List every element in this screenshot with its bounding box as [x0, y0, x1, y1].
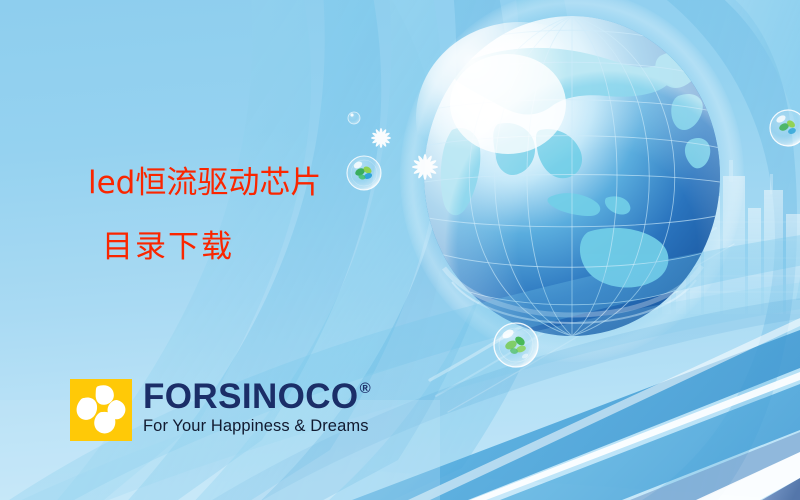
logo-wordmark: FORSINOCO ® For Your Happiness & Dreams	[143, 379, 371, 436]
headline-line-1: led恒流驱动芯片	[88, 168, 418, 200]
headline-text: led恒流驱动芯片 目录下载	[88, 168, 418, 263]
registered-trademark-symbol: ®	[360, 381, 371, 396]
logo-mark	[70, 379, 132, 441]
logo-tagline: For Your Happiness & Dreams	[143, 417, 371, 436]
pinwheel-flower-icon	[70, 379, 132, 441]
bubble-small	[348, 112, 360, 124]
banner-canvas: led恒流驱动芯片 目录下载 FORSINOCO ® For Your Happ…	[0, 0, 800, 500]
bubble-with-green-pinwheel	[770, 110, 800, 146]
company-logo: FORSINOCO ® For Your Happiness & Dreams	[70, 379, 371, 441]
headline-line-2: 目录下载	[102, 232, 418, 264]
bubble-with-green-pinwheel	[494, 323, 538, 367]
logo-company-name: FORSINOCO	[143, 380, 359, 414]
